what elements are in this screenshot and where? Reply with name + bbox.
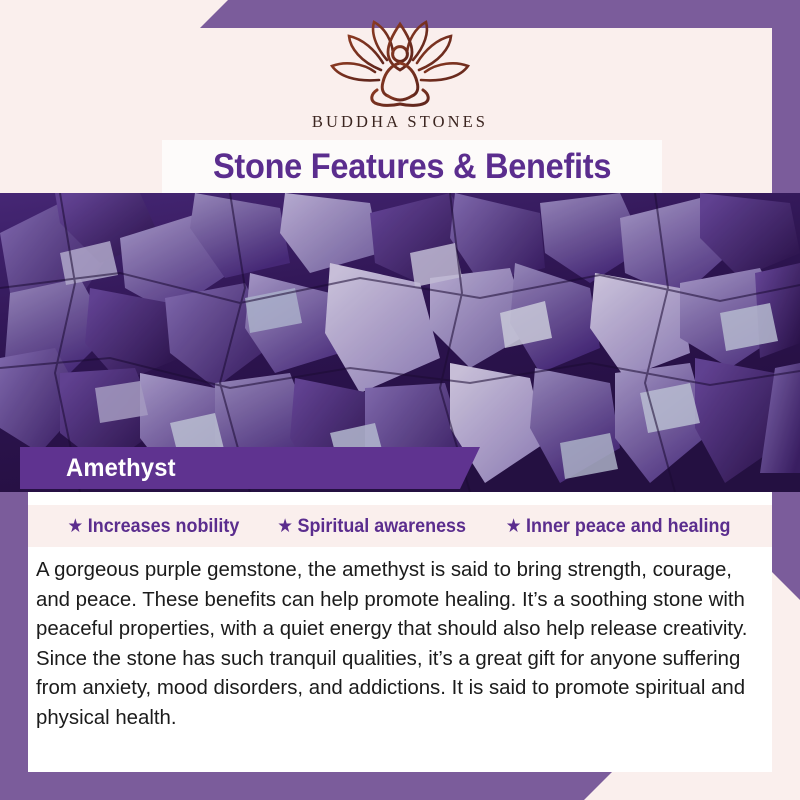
benefit-label: Inner peace and healing: [526, 515, 730, 538]
benefit-item-1: ★ Increases nobility: [67, 515, 239, 538]
benefit-label: Spiritual awareness: [297, 515, 466, 538]
brand-logo: BUDDHA STONES: [0, 18, 800, 132]
stone-name-label: Amethyst: [66, 454, 176, 483]
infographic-page: BUDDHA STONES Stone Features & Benefits: [0, 0, 800, 800]
star-icon: ★: [277, 517, 293, 536]
frame-accent-bottom: [0, 772, 800, 800]
benefit-item-2: ★ Spiritual awareness: [277, 515, 466, 538]
star-icon: ★: [506, 517, 522, 536]
stone-name-banner: Amethyst: [20, 447, 480, 489]
lotus-meditation-icon: [315, 18, 485, 110]
brand-name: BUDDHA STONES: [312, 112, 488, 132]
star-icon: ★: [67, 517, 83, 536]
benefit-item-3: ★ Inner peace and healing: [506, 515, 731, 538]
page-title: Stone Features & Benefits: [213, 149, 611, 184]
benefits-row: ★ Increases nobility ★ Spiritual awarene…: [28, 505, 772, 547]
title-box: Stone Features & Benefits: [162, 140, 662, 193]
header: BUDDHA STONES Stone Features & Benefits: [0, 0, 800, 193]
benefit-label: Increases nobility: [88, 515, 240, 538]
description-text: A gorgeous purple gemstone, the amethyst…: [36, 556, 770, 734]
